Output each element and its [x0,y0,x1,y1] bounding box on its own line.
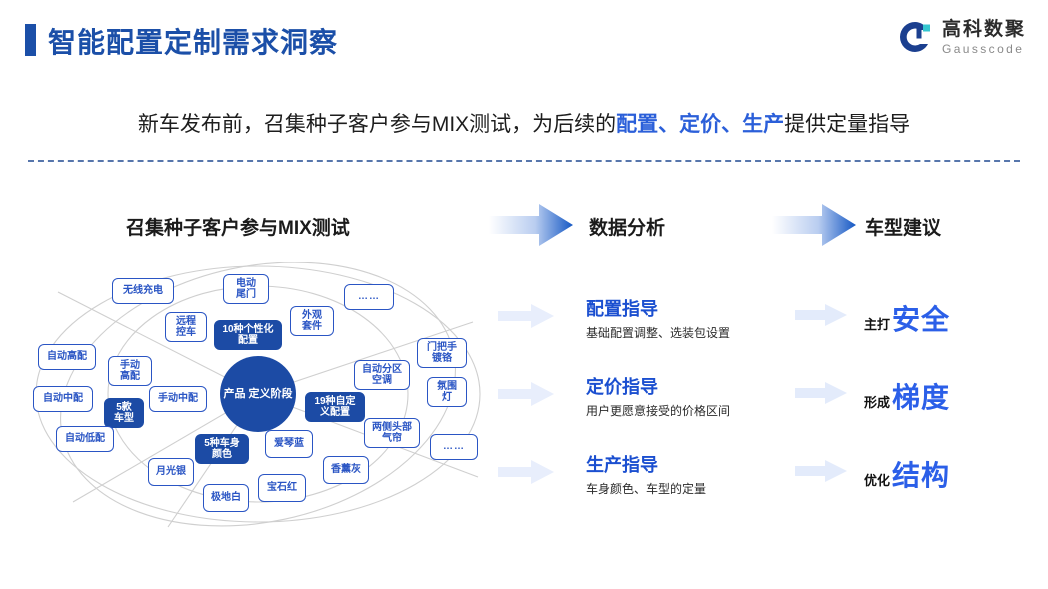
mindmap-node: 19种自定 义配置 [305,392,365,422]
subtitle-highlight: 配置、定价、生产 [616,113,784,136]
subtitle-part-2: 提供定量指导 [784,113,910,136]
mindmap-node: 手动 高配 [108,356,152,386]
right-arrow-1-icon [795,303,847,327]
brand-logo: 高科数聚 Gausscode [896,18,1026,56]
mindmap-node: 5款 车型 [104,398,144,428]
analysis-title-1: 配置指导 [586,300,730,320]
mindmap-node: 氛围 灯 [427,377,467,407]
mindmap-node: 远程 控车 [165,312,207,342]
flow-arrow-1-icon [489,203,573,247]
mindmap-node: 宝石红 [258,474,306,502]
recommendation-prefix-3: 优化 [864,470,890,489]
recommendation-keyword-3: 结构 [892,454,950,494]
mindmap-node: 两侧头部 气帘 [364,418,420,448]
column-header-analysis: 数据分析 [589,213,665,240]
analysis-item-2: 定价指导 用户更愿意接受的价格区间 [586,378,730,418]
flow-arrow-2-icon [772,203,856,247]
mid-arrow-3-icon [498,459,554,485]
mindmap: 产品 定义阶段 无线充电电动 尾门……远程 控车10种个性化 配置外观 套件门把… [18,262,488,547]
mindmap-node: 爱琴蓝 [265,430,313,458]
subtitle-part-1: 新车发布前，召集种子客户参与MIX测试，为后续的 [138,113,616,136]
analysis-title-3: 生产指导 [586,456,706,476]
mindmap-node: 月光银 [148,458,194,486]
column-header-recommendation: 车型建议 [865,213,941,240]
mindmap-node: 自动分区 空调 [354,360,410,390]
recommendation-prefix-2: 形成 [864,392,890,411]
subtitle: 新车发布前，召集种子客户参与MIX测试，为后续的配置、定价、生产提供定量指导 [0,108,1048,138]
mindmap-node: 电动 尾门 [223,274,269,304]
mindmap-node: …… [430,434,478,460]
recommendation-item-3: 优化 结构 [864,454,950,494]
logo-wordmark: 高科数聚 Gausscode [942,20,1026,55]
section-divider [28,160,1020,162]
analysis-item-3: 生产指导 车身颜色、车型的定量 [586,456,706,496]
right-arrow-3-icon [795,459,847,483]
analysis-desc-1: 基础配置调整、选装包设置 [586,327,730,340]
recommendation-keyword-1: 安全 [892,298,950,338]
mindmap-center-node: 产品 定义阶段 [220,356,296,432]
mindmap-node: 外观 套件 [290,306,334,336]
analysis-desc-2: 用户更愿意接受的价格区间 [586,405,730,418]
column-header-collect: 召集种子客户参与MIX测试 [126,213,350,240]
recommendation-item-2: 形成 梯度 [864,376,950,416]
mindmap-node: 极地白 [203,484,249,512]
mindmap-node: 5种车身 颜色 [195,434,249,464]
analysis-title-2: 定价指导 [586,378,730,398]
analysis-item-1: 配置指导 基础配置调整、选装包设置 [586,300,730,340]
mindmap-node: 自动低配 [56,426,114,452]
mid-arrow-1-icon [498,303,554,329]
mid-arrow-2-icon [498,381,554,407]
mindmap-node: …… [344,284,394,310]
analysis-desc-3: 车身颜色、车型的定量 [586,483,706,496]
mindmap-node: 无线充电 [112,278,174,304]
mindmap-node: 手动中配 [149,386,207,412]
slide-root: 智能配置定制需求洞察 高科数聚 Gausscode 新车发布前，召集种子客户参与… [0,0,1048,589]
mindmap-node: 自动高配 [38,344,96,370]
mindmap-node: 自动中配 [33,386,93,412]
slide-header: 智能配置定制需求洞察 高科数聚 Gausscode [0,0,1048,72]
mindmap-node: 10种个性化 配置 [214,320,282,350]
title-accent-bar [25,24,36,56]
mindmap-node: 门把手 镀铬 [417,338,467,368]
page-title: 智能配置定制需求洞察 [48,21,338,61]
logo-name-en: Gausscode [942,43,1026,55]
mindmap-node: 香薰灰 [323,456,369,484]
gausscode-logo-icon [896,18,934,56]
recommendation-item-1: 主打 安全 [864,298,950,338]
recommendation-keyword-2: 梯度 [892,376,950,416]
right-arrow-2-icon [795,381,847,405]
recommendation-prefix-1: 主打 [864,314,890,333]
logo-name-cn: 高科数聚 [942,20,1026,39]
